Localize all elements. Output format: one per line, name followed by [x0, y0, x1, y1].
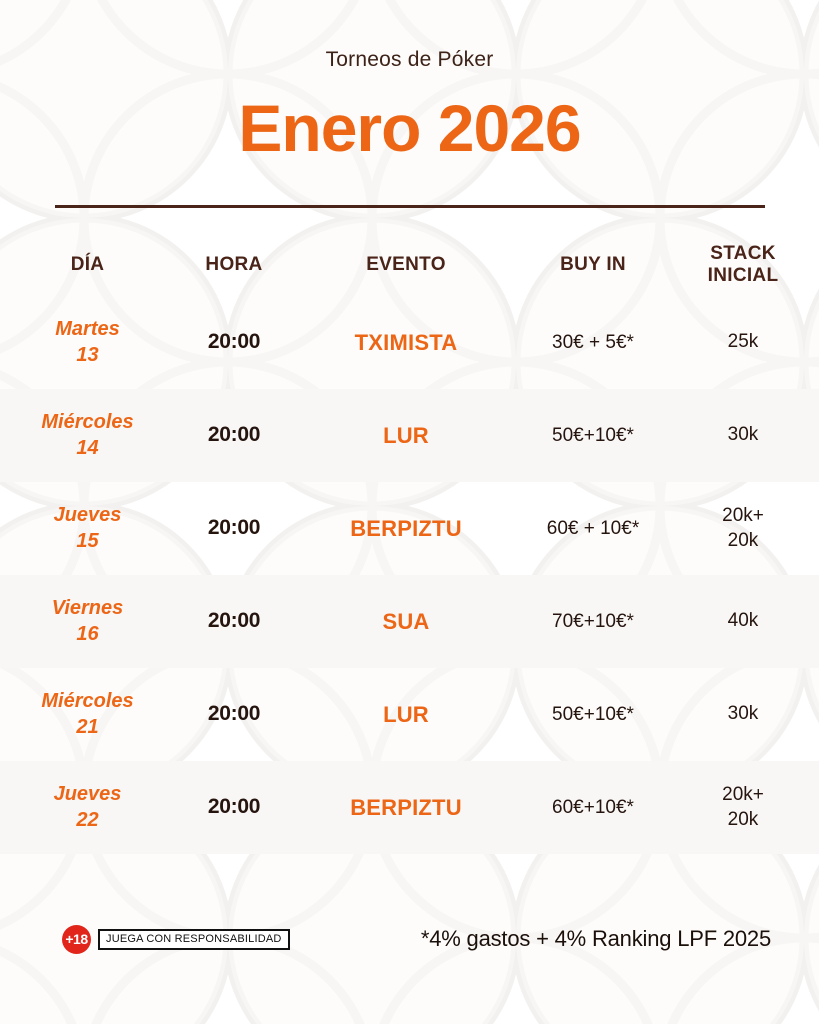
poster-footer: +18 JUEGA CON RESPONSABILIDAD *4% gastos… — [0, 854, 819, 1024]
fee-note: *4% gastos + 4% Ranking LPF 2025 — [421, 926, 771, 952]
column-header-stack: STACK INICIAL — [667, 243, 819, 288]
cell-event: SUA — [293, 609, 519, 635]
cell-day: Jueves 22 — [0, 782, 175, 833]
cell-day: Jueves 15 — [0, 503, 175, 554]
cell-time: 20:00 — [175, 330, 293, 355]
column-header-stack-line2: INICIAL — [669, 265, 817, 287]
table-header-row: DÍA HORA EVENTO BUY IN STACK INICIAL — [0, 234, 819, 296]
cell-time: 20:00 — [175, 702, 293, 727]
stack-line1: 20k+ — [669, 783, 817, 808]
tournament-table: DÍA HORA EVENTO BUY IN STACK INICIAL Mar… — [0, 234, 819, 854]
table-row: Miércoles 14 20:00 LUR 50€+10€* 30k — [0, 389, 819, 482]
cell-buyin: 60€ + 10€* — [519, 518, 667, 540]
cell-buyin: 70€+10€* — [519, 611, 667, 633]
cell-stack: 30k — [667, 702, 819, 727]
day-number: 14 — [2, 436, 173, 462]
table-row: Viernes 16 20:00 SUA 70€+10€* 40k — [0, 575, 819, 668]
cell-stack: 25k — [667, 330, 819, 355]
poker-schedule-poster: Torneos de Póker Enero 2026 DÍA HORA EVE… — [0, 0, 819, 1024]
cell-day: Miércoles 21 — [0, 689, 175, 740]
table-row: Jueves 15 20:00 BERPIZTU 60€ + 10€* 20k+… — [0, 482, 819, 575]
day-number: 13 — [2, 343, 173, 369]
column-header-hora: HORA — [175, 254, 293, 276]
stack-line2: 20k — [669, 808, 817, 833]
stack-line2: 20k — [669, 529, 817, 554]
cell-stack: 20k+ 20k — [667, 783, 819, 832]
column-header-buyin: BUY IN — [519, 254, 667, 276]
poster-header: Torneos de Póker Enero 2026 — [0, 0, 819, 208]
cell-buyin: 60€+10€* — [519, 797, 667, 819]
day-number: 22 — [2, 808, 173, 834]
cell-time: 20:00 — [175, 516, 293, 541]
page-title: Enero 2026 — [0, 94, 819, 163]
column-header-evento: EVENTO — [293, 254, 519, 276]
cell-stack: 40k — [667, 609, 819, 634]
cell-day: Miércoles 14 — [0, 410, 175, 461]
cell-event: BERPIZTU — [293, 516, 519, 542]
cell-stack: 30k — [667, 423, 819, 448]
table-row: Miércoles 21 20:00 LUR 50€+10€* 30k — [0, 668, 819, 761]
stack-line1: 25k — [669, 330, 817, 355]
day-number: 21 — [2, 715, 173, 741]
day-name: Viernes — [2, 596, 173, 622]
cell-time: 20:00 — [175, 423, 293, 448]
header-divider — [55, 205, 765, 208]
day-name: Miércoles — [2, 689, 173, 715]
cell-buyin: 30€ + 5€* — [519, 332, 667, 354]
cell-time: 20:00 — [175, 609, 293, 634]
stack-line1: 40k — [669, 609, 817, 634]
poster-subtitle: Torneos de Póker — [0, 48, 819, 72]
cell-day: Viernes 16 — [0, 596, 175, 647]
cell-event: TXIMISTA — [293, 330, 519, 356]
table-row: Jueves 22 20:00 BERPIZTU 60€+10€* 20k+ 2… — [0, 761, 819, 854]
table-row: Martes 13 20:00 TXIMISTA 30€ + 5€* 25k — [0, 296, 819, 389]
responsible-gaming-group: +18 JUEGA CON RESPONSABILIDAD — [62, 925, 290, 954]
cell-buyin: 50€+10€* — [519, 425, 667, 447]
cell-day: Martes 13 — [0, 317, 175, 368]
cell-stack: 20k+ 20k — [667, 504, 819, 553]
stack-line1: 30k — [669, 423, 817, 448]
cell-event: LUR — [293, 702, 519, 728]
cell-event: BERPIZTU — [293, 795, 519, 821]
day-name: Jueves — [2, 782, 173, 808]
column-header-dia: DÍA — [0, 254, 175, 276]
responsible-gaming-label: JUEGA CON RESPONSABILIDAD — [98, 929, 290, 950]
day-number: 15 — [2, 529, 173, 555]
cell-buyin: 50€+10€* — [519, 704, 667, 726]
day-name: Jueves — [2, 503, 173, 529]
day-number: 16 — [2, 622, 173, 648]
age-restriction-badge: +18 — [62, 925, 91, 954]
cell-time: 20:00 — [175, 795, 293, 820]
cell-event: LUR — [293, 423, 519, 449]
column-header-stack-line1: STACK — [669, 243, 817, 265]
day-name: Miércoles — [2, 410, 173, 436]
day-name: Martes — [2, 317, 173, 343]
stack-line1: 30k — [669, 702, 817, 727]
stack-line1: 20k+ — [669, 504, 817, 529]
